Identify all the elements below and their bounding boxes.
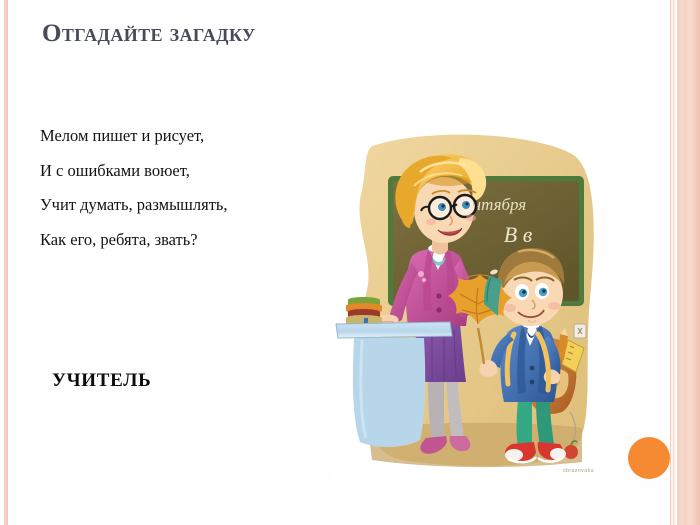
chalkboard-line-2: В в bbox=[504, 222, 533, 247]
riddle-answer: УЧИТЕЛЬ bbox=[52, 370, 151, 392]
right-accent-hairline bbox=[671, 0, 673, 525]
left-accent-bar bbox=[4, 0, 8, 525]
riddle-line: Учит думать, размышлять, bbox=[40, 197, 320, 214]
riddle-line: Как его, ребята, звать? bbox=[40, 232, 320, 249]
riddle-text-block: Мелом пишет и рисует, И с ошибками воюет… bbox=[40, 128, 320, 266]
slide-canvas: Отгадайте загадку Мелом пишет и рисует, … bbox=[0, 0, 700, 525]
illustration-svg: сентября В в в в bbox=[332, 128, 600, 478]
page-title: Отгадайте загадку bbox=[42, 20, 256, 48]
orange-circle-decoration bbox=[628, 437, 670, 479]
riddle-line: И с ошибками воюет, bbox=[40, 163, 320, 180]
riddle-line: Мелом пишет и рисует, bbox=[40, 128, 320, 145]
illustration-image: сентября В в в в bbox=[332, 128, 600, 478]
illustration-watermark: obrazovaka bbox=[563, 468, 594, 474]
